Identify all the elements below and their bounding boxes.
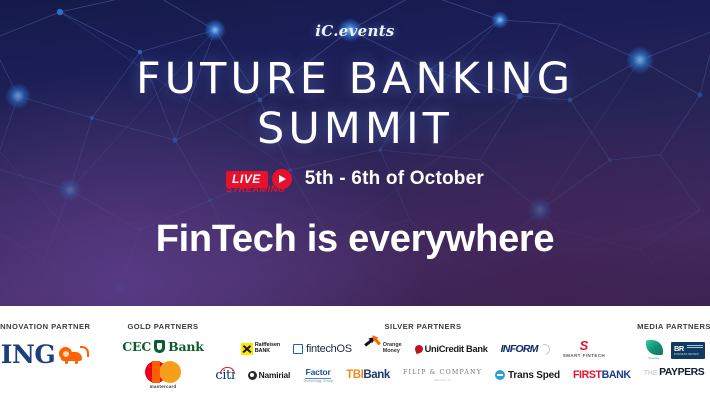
two-arrows-icon bbox=[365, 343, 380, 356]
brand-logo: iC.events bbox=[0, 22, 710, 40]
first-text: FIRST bbox=[573, 369, 602, 381]
inform-wordmark: INFORM bbox=[501, 343, 538, 355]
silver-logo-row-1: Raiffeisen BANK fintechOS Orange Money bbox=[222, 340, 624, 358]
streaming-label: STREAMING bbox=[226, 184, 285, 194]
inform-logo[interactable]: INFORM bbox=[501, 343, 550, 355]
partner-group-heading: INNOVATION PARTNER bbox=[0, 306, 104, 331]
poster-canvas: iC.events FUTURE BANKING SUMMIT LIVE STR… bbox=[0, 0, 710, 400]
bank-text: Bank bbox=[168, 339, 204, 354]
leaf-icon bbox=[646, 340, 663, 355]
dot-circle-icon bbox=[248, 371, 257, 380]
event-tagline: FinTech is everywhere bbox=[0, 218, 710, 261]
partner-group-heading: MEDIA PARTNERS bbox=[624, 306, 710, 331]
factor-logo[interactable]: Factor Technology Group bbox=[303, 367, 333, 383]
raiffeisen-bank-logo[interactable]: Raiffeisen BANK bbox=[241, 343, 280, 355]
shield-icon bbox=[154, 340, 165, 353]
filip-subtitle: lawfirm.ro bbox=[434, 378, 451, 382]
globe-icon bbox=[495, 370, 505, 380]
citi-logo[interactable]: citi bbox=[215, 368, 234, 383]
factor-subtitle: Technology Group bbox=[303, 379, 333, 383]
partner-group-media: MEDIA PARTNERS finance BR BUSINESS REVIE… bbox=[624, 306, 710, 400]
date-row: LIVE STREAMING 5th - 6th of October bbox=[0, 168, 710, 190]
bank-text: Bank bbox=[363, 369, 390, 381]
fintechos-logo[interactable]: fintechOS bbox=[293, 343, 352, 355]
bars-icon bbox=[687, 345, 703, 349]
ing-logo[interactable]: ING bbox=[0, 340, 104, 369]
two-circles-icon bbox=[145, 361, 181, 383]
partner-group-gold: GOLD PARTNERS CEC Bank mastercard bbox=[104, 306, 222, 400]
media-logo-row-1: finance BR BUSINESS REVIEW bbox=[624, 340, 710, 360]
filip-company-logo[interactable]: FILIP & COMPANY lawfirm.ro bbox=[403, 368, 482, 382]
event-title-line-2: SUMMIT bbox=[0, 106, 710, 152]
unicredit-bank-logo[interactable]: UniCredit Bank bbox=[415, 344, 488, 354]
mastercard-wordmark: mastercard bbox=[150, 384, 177, 389]
gable-cross-icon bbox=[241, 343, 253, 355]
event-title-line-1: FUTURE BANKING bbox=[0, 56, 710, 102]
green-leaf-media-logo[interactable]: finance bbox=[643, 340, 665, 360]
square-outline-icon bbox=[293, 344, 303, 354]
trans-sped-wordmark: Trans Sped bbox=[508, 370, 560, 381]
orange-money-logo[interactable]: Orange Money bbox=[365, 343, 402, 356]
smart-fintech-wordmark: SMART FINTECH bbox=[563, 353, 605, 358]
ing-wordmark: ING bbox=[1, 340, 55, 369]
partners-bar: INNOVATION PARTNER ING GOLD PARTNERS CEC… bbox=[0, 306, 710, 400]
red-drop-icon bbox=[414, 344, 424, 354]
arc-icon bbox=[537, 342, 552, 357]
partner-group-heading: SILVER PARTNERS bbox=[222, 306, 624, 331]
filip-wordmark: FILIP & COMPANY bbox=[403, 368, 482, 376]
namirial-wordmark: Namirial bbox=[259, 370, 290, 380]
partner-group-innovation: INNOVATION PARTNER ING bbox=[0, 306, 104, 400]
lion-icon bbox=[59, 345, 87, 364]
partner-group-silver: SILVER PARTNERS Raiffeisen BANK fintechO… bbox=[222, 306, 624, 400]
cec-text: CEC bbox=[122, 339, 151, 354]
first-bank-logo[interactable]: FIRST BANK bbox=[573, 369, 631, 381]
media-logo-row-2: THE PAYPERS bbox=[624, 367, 710, 378]
silver-logo-row-2: citi Namirial Factor Technology Group TB… bbox=[222, 367, 624, 383]
tbi-bank-logo[interactable]: TBI Bank bbox=[346, 369, 390, 381]
tbi-text: TBI bbox=[346, 369, 363, 381]
s-mark-icon: S bbox=[580, 340, 589, 352]
factor-wordmark: Factor bbox=[306, 367, 331, 377]
hero-banner: iC.events FUTURE BANKING SUMMIT LIVE STR… bbox=[0, 0, 710, 306]
paypers-text: PAYPERS bbox=[659, 367, 704, 378]
live-streaming-badge: LIVE STREAMING bbox=[226, 169, 292, 189]
fintechos-wordmark: fintechOS bbox=[306, 343, 352, 355]
the-text: THE bbox=[644, 370, 657, 377]
mastercard-logo[interactable]: mastercard bbox=[104, 361, 222, 389]
partner-group-heading: GOLD PARTNERS bbox=[104, 306, 222, 331]
br-subtitle: BUSINESS REVIEW bbox=[674, 353, 699, 356]
leaf-wordmark: finance bbox=[649, 356, 660, 360]
the-paypers-logo[interactable]: THE PAYPERS bbox=[644, 367, 705, 378]
event-date: 5th - 6th of October bbox=[305, 168, 484, 190]
br-business-review-logo[interactable]: BR BUSINESS REVIEW bbox=[671, 342, 705, 359]
money-text: Money bbox=[383, 348, 400, 354]
hero-content: iC.events FUTURE BANKING SUMMIT LIVE STR… bbox=[0, 0, 710, 306]
unicredit-wordmark: UniCredit Bank bbox=[425, 344, 488, 354]
br-wordmark: BR bbox=[674, 345, 684, 352]
cec-bank-logo[interactable]: CEC Bank bbox=[104, 339, 222, 354]
smart-fintech-logo[interactable]: S SMART FINTECH bbox=[563, 340, 605, 358]
bank-text: BANK bbox=[255, 348, 270, 354]
trans-sped-logo[interactable]: Trans Sped bbox=[495, 370, 560, 381]
namirial-logo[interactable]: Namirial bbox=[248, 370, 290, 380]
